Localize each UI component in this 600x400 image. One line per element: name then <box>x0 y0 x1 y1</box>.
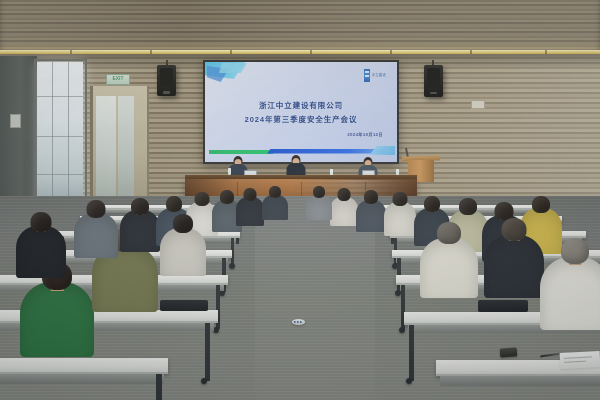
person-torso <box>120 210 160 252</box>
person-torso <box>484 235 544 298</box>
slide-decoration-c <box>219 63 247 73</box>
conference-room-photo: EXIT 中立建设 浙江中立建设有限公司 2024年第三季度安全生产会议 202… <box>0 0 600 400</box>
door-glass-right <box>118 96 134 208</box>
desk-apron <box>440 376 600 386</box>
person-torso <box>160 228 206 276</box>
door-glass-left <box>96 96 116 208</box>
desk-caster <box>406 378 412 384</box>
desk-leg <box>156 374 162 400</box>
mobile-phone <box>500 347 518 357</box>
person-head <box>166 196 182 212</box>
ceiling-highlight <box>0 0 600 54</box>
person-torso <box>540 257 600 330</box>
attendee-11 <box>356 190 386 232</box>
attendee-12 <box>384 192 416 236</box>
person-head <box>561 238 589 264</box>
speaker-cone-icon <box>427 68 440 87</box>
floor-marker <box>292 319 305 325</box>
person-torso <box>356 200 386 232</box>
paper-sheet <box>560 351 600 369</box>
desk-apron <box>0 374 164 384</box>
attendee-22 <box>306 186 332 220</box>
wall-speaker-left <box>157 65 176 96</box>
slide-surface: 中立建设 浙江中立建设有限公司 2024年第三季度安全生产会议 2024年10月… <box>205 62 397 162</box>
speaker-cone-icon <box>160 68 173 86</box>
logo-mark-icon <box>364 69 370 82</box>
attendee-10 <box>330 188 358 226</box>
wall-switch-plate <box>10 114 21 128</box>
slide-footer-band <box>205 149 397 154</box>
exit-sign: EXIT <box>106 74 130 85</box>
person-head <box>459 198 477 215</box>
band-blue <box>267 149 385 154</box>
person-torso <box>16 226 66 278</box>
window-frame <box>34 59 87 213</box>
person-torso <box>74 213 118 258</box>
person-torso <box>306 195 332 220</box>
slide-date: 2024年10月12日 <box>347 132 383 138</box>
speaker-badge <box>163 91 170 93</box>
wall-speaker-right <box>424 65 443 97</box>
person-head <box>532 196 550 213</box>
person-head <box>220 190 234 204</box>
attendee-18 <box>484 218 544 298</box>
floor-marker-dots <box>294 321 303 323</box>
attendee-19 <box>540 238 600 330</box>
desk-caster <box>399 327 405 333</box>
person-head <box>313 186 325 198</box>
person-torso <box>236 197 264 226</box>
speaker-badge <box>430 92 437 95</box>
attendee-04 <box>74 200 118 258</box>
water-bottle-head-table-1 <box>228 168 231 175</box>
attendee-05 <box>120 198 160 252</box>
attendee-20 <box>160 214 206 276</box>
person-head <box>502 218 527 241</box>
person-torso <box>262 195 288 220</box>
desk-left-row-7 <box>0 358 168 374</box>
desk-leg <box>409 325 414 381</box>
person-head <box>31 212 52 232</box>
person-head <box>338 188 351 201</box>
person-head <box>87 200 106 218</box>
slide-meeting-title: 2024年第三季度安全生产会议 <box>205 114 397 125</box>
person-head <box>195 192 210 206</box>
person-torso <box>384 202 416 236</box>
person-head <box>424 196 440 212</box>
exit-sign-label: EXIT <box>112 77 123 82</box>
person-torso <box>420 238 478 298</box>
desk-leg <box>205 323 210 381</box>
person-head <box>244 188 257 201</box>
wall-sensor-icon <box>471 100 485 109</box>
slide-company-name: 浙江中立建设有限公司 <box>205 100 397 111</box>
desk-caster <box>229 263 235 269</box>
person-head <box>393 192 408 206</box>
chair-back <box>160 300 208 311</box>
person-head <box>269 186 281 198</box>
band-green <box>209 150 273 154</box>
attendee-09 <box>236 188 264 226</box>
person-head <box>364 190 378 204</box>
projection-screen: 中立建设 浙江中立建设有限公司 2024年第三季度安全生产会议 2024年10月… <box>203 60 399 164</box>
person-head <box>173 214 193 233</box>
desk-caster <box>201 378 207 384</box>
person-head <box>131 198 149 215</box>
person-head <box>437 222 461 244</box>
person-torso <box>20 282 94 357</box>
person-torso <box>330 197 358 226</box>
attendee-21 <box>262 186 288 220</box>
attendee-03 <box>16 212 66 278</box>
chair-back <box>478 300 528 312</box>
company-logo: 中立建设 <box>364 69 386 82</box>
wall-column-left <box>0 56 37 216</box>
logo-text: 中立建设 <box>372 73 386 77</box>
attendee-17 <box>420 222 478 298</box>
